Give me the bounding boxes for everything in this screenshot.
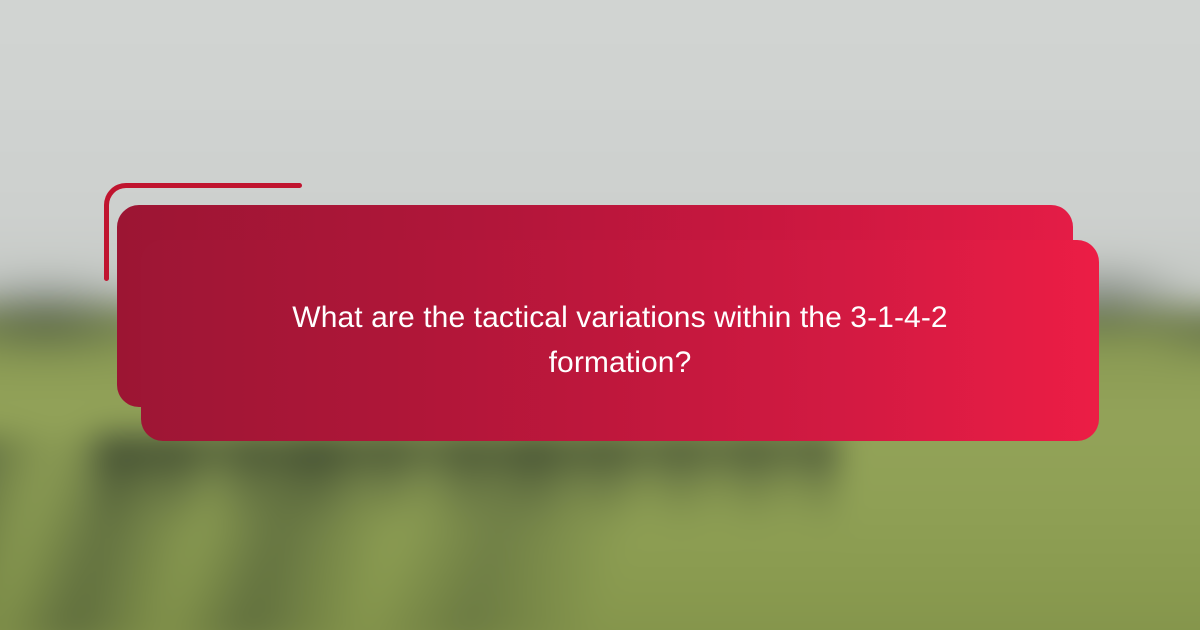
question-title: What are the tactical variations within … xyxy=(190,296,1050,385)
background-player-legs xyxy=(98,435,837,540)
screenshot-canvas: What are the tactical variations within … xyxy=(0,0,1200,630)
question-card: What are the tactical variations within … xyxy=(104,183,1100,443)
card-front-layer: What are the tactical variations within … xyxy=(141,240,1099,441)
